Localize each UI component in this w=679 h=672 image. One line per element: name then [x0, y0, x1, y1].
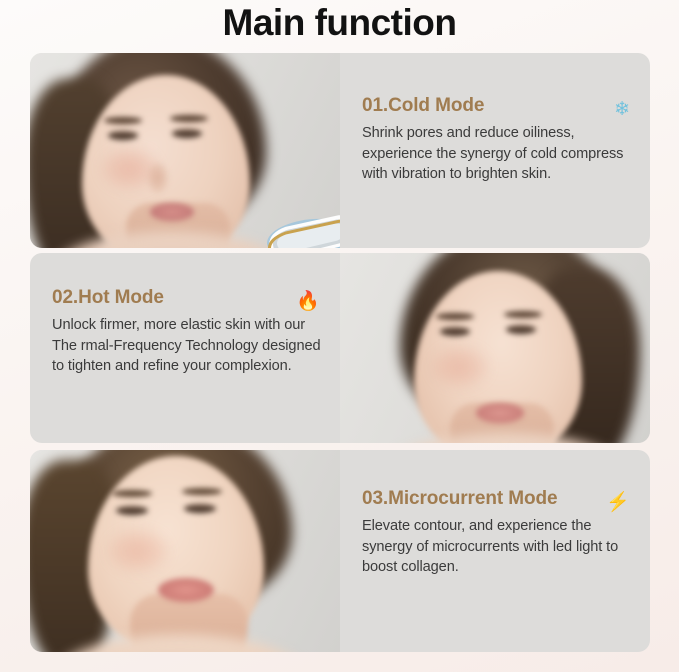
panel-title-microcurrent-mode: 03.Microcurrent Mode: [362, 488, 557, 510]
feature-panel-hot-mode: 02.Hot Mode 🔥 Unlock firmer, more elasti…: [30, 253, 650, 443]
lips-shape: [158, 578, 214, 602]
eyebrow-left: [104, 117, 142, 124]
cheek-blush: [432, 347, 488, 387]
panel-description-microcurrent-mode: Elevate contour, and experience the syne…: [362, 516, 636, 578]
eye-left: [440, 327, 470, 336]
page-title: Main function: [0, 0, 679, 48]
panel-image-microcurrent-mode: [30, 450, 340, 652]
cheek-blush: [108, 530, 168, 572]
eyebrow-right: [170, 115, 208, 122]
panel-title-cold-mode: 01.Cold Mode: [362, 95, 484, 117]
panel-image-hot-mode: [340, 253, 650, 443]
eyebrow-right: [504, 311, 542, 318]
eye-left: [108, 131, 138, 140]
panel-text-hot-mode: 02.Hot Mode 🔥 Unlock firmer, more elasti…: [30, 253, 340, 443]
nose-shade: [148, 163, 168, 193]
feature-panel-cold-mode: 01.Cold Mode ❄ Shrink pores and reduce o…: [30, 53, 650, 248]
panel-text-cold-mode: 01.Cold Mode ❄ Shrink pores and reduce o…: [340, 53, 650, 248]
feature-panel-microcurrent-mode: 03.Microcurrent Mode ⚡ Elevate contour, …: [30, 450, 650, 652]
panel-description-hot-mode: Unlock firmer, more elastic skin with ou…: [52, 315, 326, 377]
lips-shape: [476, 403, 524, 423]
flame-icon: 🔥: [296, 292, 320, 311]
panel-text-microcurrent-mode: 03.Microcurrent Mode ⚡ Elevate contour, …: [340, 450, 650, 652]
eyebrow-right: [182, 488, 222, 495]
product-feature-page: Main function: [0, 0, 679, 672]
snowflake-icon: ❄: [614, 100, 630, 119]
lips-shape: [150, 203, 194, 221]
panel-image-cold-mode: [30, 53, 340, 248]
eye-right: [184, 504, 216, 513]
eye-left: [116, 506, 148, 515]
eye-right: [172, 129, 202, 138]
panel-description-cold-mode: Shrink pores and reduce oiliness, experi…: [362, 123, 636, 185]
lightning-bolt-icon: ⚡: [606, 493, 630, 512]
eyebrow-left: [112, 490, 152, 497]
eye-right: [506, 325, 536, 334]
panel-title-hot-mode: 02.Hot Mode: [52, 287, 164, 309]
eyebrow-left: [436, 313, 474, 320]
